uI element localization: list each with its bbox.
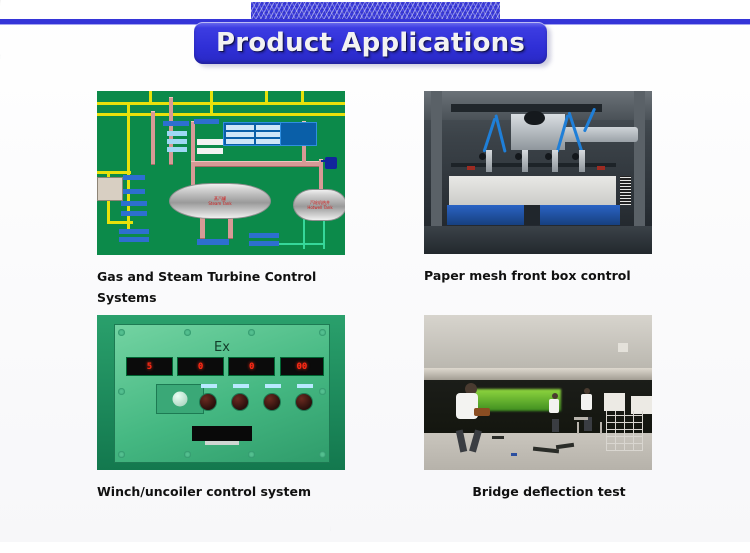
paper-mesh-machine-photo (424, 91, 652, 254)
panel-nameplate (192, 426, 252, 441)
paper-mesh-front-box-image[interactable] (424, 91, 652, 254)
led-display-4: 00 (280, 357, 325, 377)
hmi-hotwell-tank: 汽轮机热井 Hotwell Tank (293, 189, 345, 221)
gallery-item-paper-mesh-front-box[interactable]: Paper mesh front box control (424, 91, 652, 286)
hmi-hotwell-tank-label-en: Hotwell Tank (307, 205, 332, 210)
hmi-steam-tank: 蒸汽罐 Steam Tank (169, 183, 271, 219)
selector-knob-icon[interactable] (172, 392, 187, 407)
bridge-deflection-image[interactable] (424, 315, 652, 470)
led-display-1: 5 (126, 357, 173, 377)
led-display-2: 0 (177, 357, 224, 377)
led-value-4: 00 (296, 362, 307, 372)
hmi-valve-icon (325, 157, 337, 169)
gallery-item-gas-steam-turbine[interactable]: 蒸汽罐 Steam Tank 汽轮机热井 Hotwell Tank Gas an… (97, 91, 345, 308)
gallery-caption-paper-mesh-front-box: Paper mesh front box control (424, 265, 654, 286)
led-value-3: 0 (249, 362, 254, 372)
ex-marking-label: Ex (214, 340, 230, 355)
gallery-caption-winch-uncoiler: Winch/uncoiler control system (97, 481, 347, 502)
gallery-caption-gas-steam-turbine: Gas and Steam Turbine Control Systems (97, 266, 347, 308)
hmi-steam-tank-label-en: Steam Tank (208, 201, 231, 206)
led-display-3: 0 (228, 357, 275, 377)
panel-button-4[interactable] (295, 393, 313, 411)
panel-handle[interactable] (205, 441, 239, 445)
hmi-screen: 蒸汽罐 Steam Tank 汽轮机热井 Hotwell Tank (97, 91, 345, 255)
gallery-item-bridge-deflection[interactable]: Bridge deflection test (424, 315, 652, 502)
page-title: Product Applications (216, 28, 525, 58)
selector-switch[interactable] (156, 384, 204, 414)
gas-steam-turbine-image[interactable]: 蒸汽罐 Steam Tank 汽轮机热井 Hotwell Tank (97, 91, 345, 255)
led-value-2: 0 (198, 362, 203, 372)
bridge-deflection-photo (424, 315, 652, 470)
gallery-caption-bridge-deflection: Bridge deflection test (424, 481, 664, 502)
panel-button-3[interactable] (263, 393, 281, 411)
gallery-item-winch-uncoiler[interactable]: Ex 5 0 0 00 (97, 315, 345, 502)
panel-face: Ex 5 0 0 00 (114, 324, 329, 462)
winch-uncoiler-image[interactable]: Ex 5 0 0 00 (97, 315, 345, 470)
page-title-plate: Product Applications (194, 22, 547, 64)
led-value-1: 5 (147, 362, 152, 372)
panel-button-1[interactable] (199, 393, 217, 411)
explosion-proof-panel-photo: Ex 5 0 0 00 (97, 315, 345, 470)
panel-button-2[interactable] (231, 393, 249, 411)
